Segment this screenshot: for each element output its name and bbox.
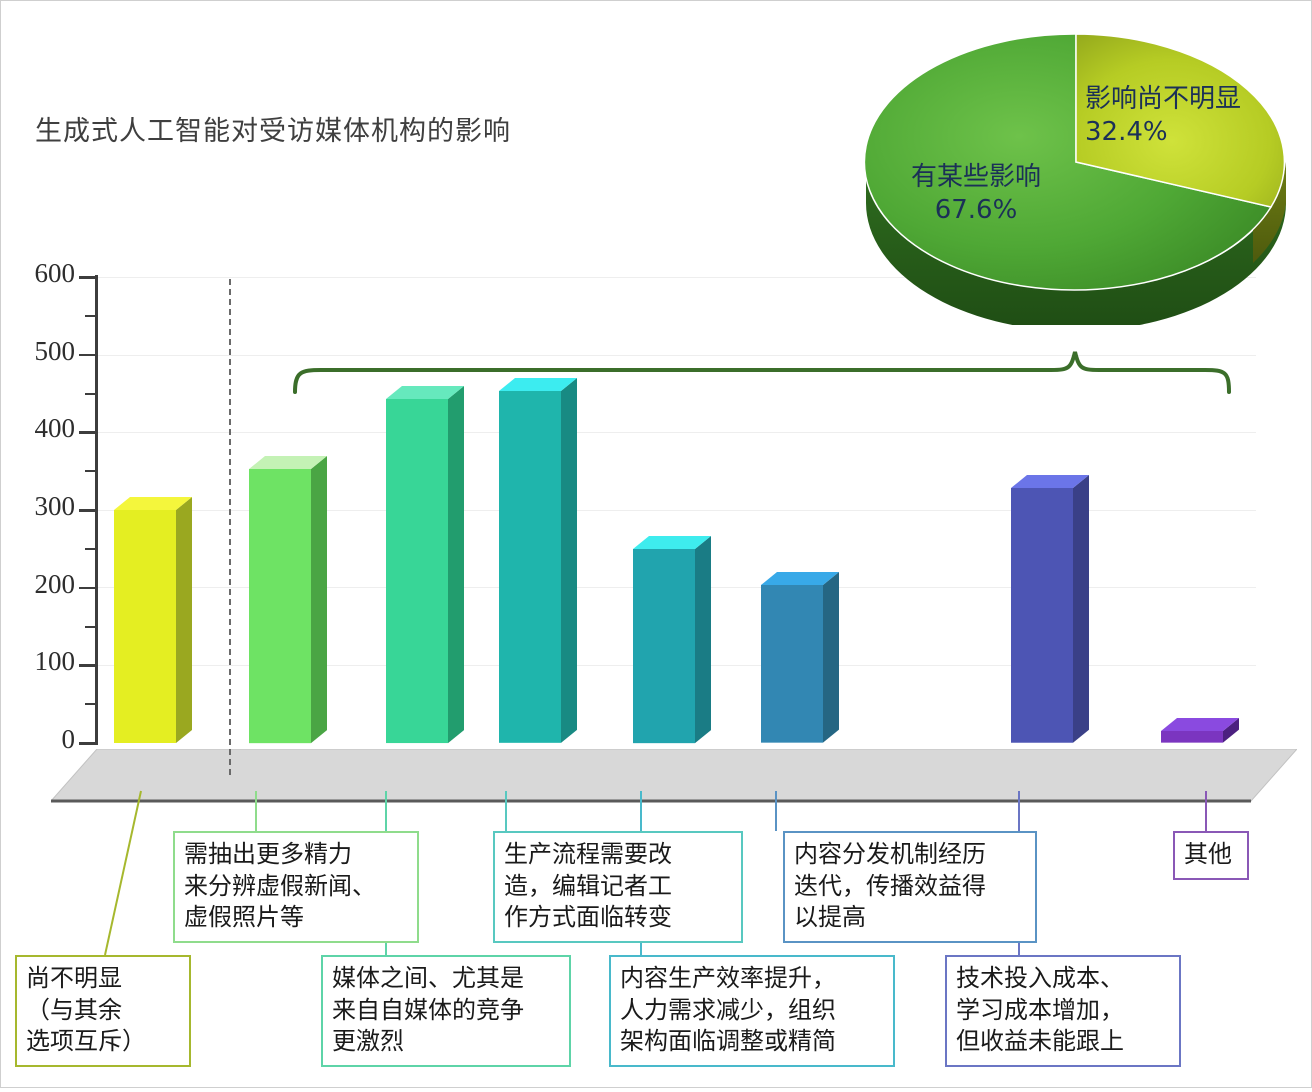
callout-line: 造，编辑记者工 xyxy=(504,871,732,903)
brace-annotation xyxy=(291,346,1231,394)
pie-slice-label: 有某些影响 xyxy=(911,162,1041,192)
callout-line: 架构面临调整或精简 xyxy=(620,1026,884,1058)
bar-7[interactable] xyxy=(1011,473,1091,745)
bar-6[interactable] xyxy=(761,570,841,745)
callout-line: 人力需求减少，组织 xyxy=(620,995,884,1027)
callout-line: 来分辨虚假新闻、 xyxy=(184,871,408,903)
callout-line: 作方式面临转变 xyxy=(504,902,732,934)
callout-line: （与其余 xyxy=(26,995,180,1027)
bar-5[interactable] xyxy=(633,534,713,745)
callout-line: 学习成本增加， xyxy=(956,995,1170,1027)
callout-box-1[interactable]: 尚不明显（与其余选项互斥） xyxy=(15,955,191,1067)
callout-box-3[interactable]: 媒体之间、尤其是来自自媒体的竞争更激烈 xyxy=(321,955,571,1067)
bar-3[interactable] xyxy=(386,384,466,745)
callout-line: 其他 xyxy=(1184,839,1238,871)
pie-label-some-impact: 有某些影响 67.6% xyxy=(911,161,1041,228)
callout-box-8[interactable]: 其他 xyxy=(1173,831,1249,880)
bar-1[interactable] xyxy=(114,495,194,745)
callout-box-6[interactable]: 内容分发机制经历迭代，传播效益得以提高 xyxy=(783,831,1037,943)
callout-line: 媒体之间、尤其是 xyxy=(332,963,560,995)
callout-line: 更激烈 xyxy=(332,1026,560,1058)
callout-line: 内容分发机制经历 xyxy=(794,839,1026,871)
pie-label-not-obvious: 影响尚不明显 32.4% xyxy=(1085,83,1241,150)
chart-stage: 生成式人工智能对受访媒体机构的影响 6005004003002001000 xyxy=(1,1,1311,1087)
pie-chart: 影响尚不明显 32.4% 有某些影响 67.6% xyxy=(853,0,1299,325)
callout-line: 虚假照片等 xyxy=(184,902,408,934)
callout-line: 来自自媒体的竞争 xyxy=(332,995,560,1027)
callout-line: 生产流程需要改 xyxy=(504,839,732,871)
callout-box-2[interactable]: 需抽出更多精力来分辨虚假新闻、虚假照片等 xyxy=(173,831,419,943)
callout-line: 内容生产效率提升， xyxy=(620,963,884,995)
callout-line: 以提高 xyxy=(794,902,1026,934)
callout-box-4[interactable]: 生产流程需要改造，编辑记者工作方式面临转变 xyxy=(493,831,743,943)
callout-line: 迭代，传播效益得 xyxy=(794,871,1026,903)
pie-slice-percent: 32.4% xyxy=(1085,116,1241,149)
callout-line: 但收益未能跟上 xyxy=(956,1026,1170,1058)
bar-2[interactable] xyxy=(249,454,329,745)
separator-dash-dot-line xyxy=(229,279,231,775)
callout-box-7[interactable]: 技术投入成本、学习成本增加，但收益未能跟上 xyxy=(945,955,1181,1067)
callout-box-5[interactable]: 内容生产效率提升，人力需求减少，组织架构面临调整或精简 xyxy=(609,955,895,1067)
callout-line: 尚不明显 xyxy=(26,963,180,995)
pie-slice-percent: 67.6% xyxy=(911,194,1041,227)
callout-line: 技术投入成本、 xyxy=(956,963,1170,995)
pie-slice-label: 影响尚不明显 xyxy=(1085,84,1241,114)
bar-8[interactable] xyxy=(1161,716,1241,745)
bar-4[interactable] xyxy=(499,376,579,745)
callout-line: 选项互斥） xyxy=(26,1026,180,1058)
callout-line: 需抽出更多精力 xyxy=(184,839,408,871)
